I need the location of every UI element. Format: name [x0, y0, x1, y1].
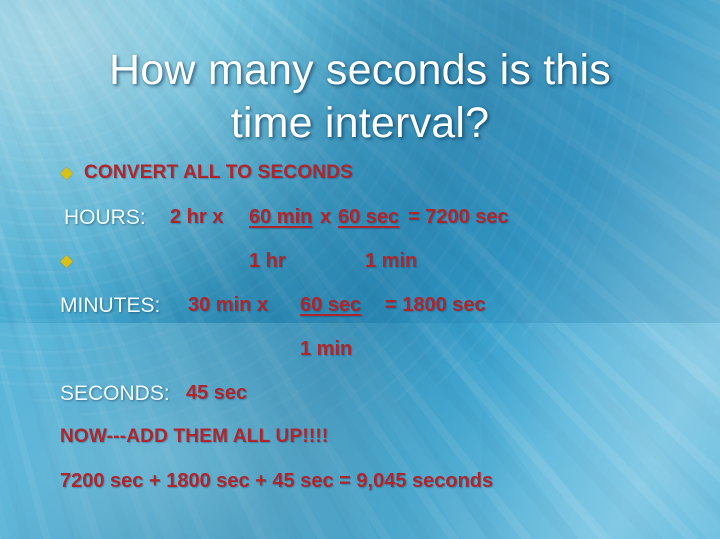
- total-sum-text: 7200 sec + 1800 sec + 45 sec = 9,045 sec…: [60, 470, 493, 493]
- hours-factor-2: 60 sec: [338, 206, 399, 229]
- equation-line-minutes: MINUTES: 30 min x 60 sec = 1800 sec: [0, 292, 720, 336]
- minutes-label: MINUTES:: [60, 294, 160, 318]
- denominator-one-hour: 1 hr: [249, 250, 286, 273]
- slide-title-line-2: time interval?: [0, 97, 720, 150]
- hours-factor-1: 60 min: [249, 206, 312, 229]
- equation-line-seconds: SECONDS: 45 sec: [0, 380, 720, 424]
- hours-value: 2 hr x: [170, 206, 223, 229]
- minutes-value: 30 min x: [188, 294, 268, 317]
- total-line: 7200 sec + 1800 sec + 45 sec = 9,045 sec…: [0, 468, 720, 512]
- seconds-value: 45 sec: [186, 382, 247, 405]
- hours-times-operator: x: [320, 206, 331, 229]
- gold-diamond-bullet-icon-2: [60, 255, 73, 268]
- convert-heading-text: CONVERT ALL TO SECONDS: [84, 162, 353, 184]
- slide-title: How many seconds is this time interval?: [0, 44, 720, 150]
- minutes-factor: 60 sec: [300, 294, 361, 317]
- slide-canvas: How many seconds is this time interval? …: [0, 0, 720, 539]
- slide-title-line-1: How many seconds is this: [0, 44, 720, 97]
- equation-line-hours: HOURS: 2 hr x 60 min x 60 sec = 7200 sec: [0, 204, 720, 248]
- seconds-label: SECONDS:: [60, 382, 170, 406]
- add-heading-text: NOW---ADD THEM ALL UP!!!!: [60, 426, 328, 448]
- slide-body: CONVERT ALL TO SECONDS HOURS: 2 hr x 60 …: [0, 160, 720, 512]
- hours-label: HOURS:: [64, 206, 146, 230]
- denominator-one-minute-2: 1 min: [300, 338, 352, 361]
- minutes-result: = 1800 sec: [385, 294, 486, 317]
- add-heading-line: NOW---ADD THEM ALL UP!!!!: [0, 424, 720, 468]
- hours-result: = 7200 sec: [408, 206, 509, 229]
- gold-diamond-bullet-icon: [60, 167, 73, 180]
- denominator-one-minute: 1 min: [365, 250, 417, 273]
- bullet-line-convert: CONVERT ALL TO SECONDS: [0, 160, 720, 204]
- denominator-line-minutes: 1 min: [0, 336, 720, 380]
- slide-content: How many seconds is this time interval? …: [0, 0, 720, 539]
- denominator-line-hours: 1 hr 1 min: [0, 248, 720, 292]
